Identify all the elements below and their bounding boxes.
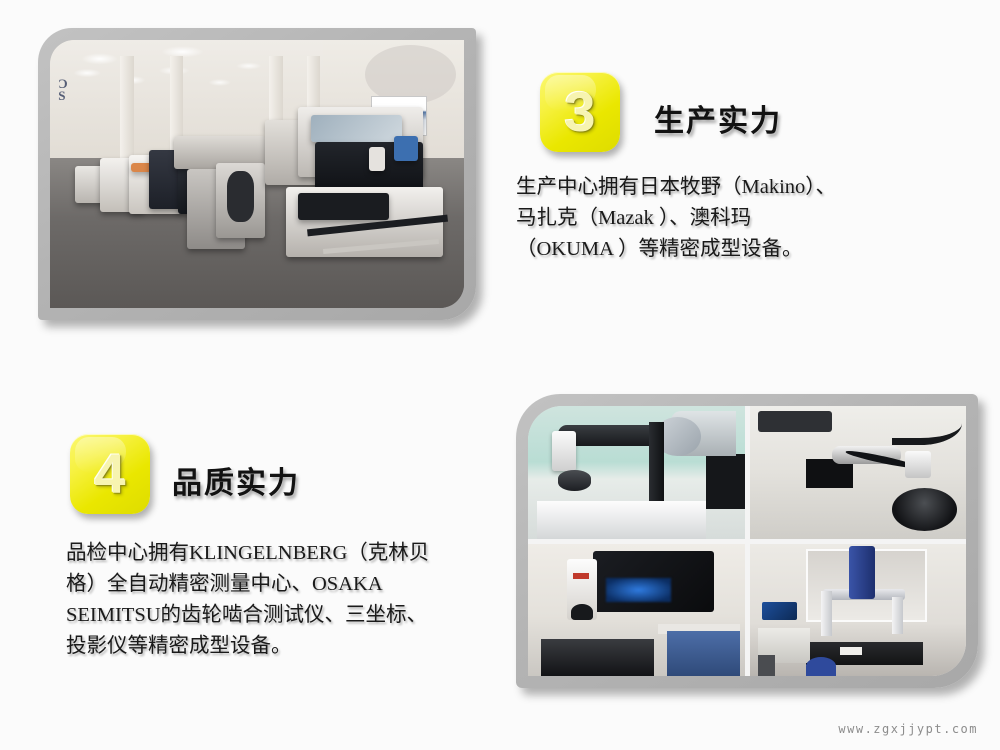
quality-photo-inner (528, 406, 966, 676)
gear-grinding-machine-photo (750, 406, 967, 539)
cmm-blue-cover (806, 657, 836, 676)
gear-probe-housing (552, 431, 576, 471)
gear-measuring-center-photo (528, 406, 745, 539)
cmm-control-box (840, 647, 862, 655)
production-body-line-3: （OKUMA ）等精密成型设备。 (516, 234, 866, 265)
production-photo-frame: ƆS (38, 28, 476, 320)
cmm-pc-tower (758, 655, 775, 676)
projector-screen-glow (606, 578, 671, 602)
grinder-top-plate (758, 411, 832, 432)
cmm-leg-right (892, 597, 903, 634)
grinder-workpiece (905, 451, 931, 478)
quality-body-line-2: 格）全自动精密测量中心、OSAKA (66, 569, 496, 600)
cmm-z-column (849, 546, 875, 599)
gear-dark-area (706, 454, 745, 510)
projector-base (541, 639, 654, 676)
section-title-production: 生产实力 (654, 96, 782, 140)
production-body-line-2: 马扎克（Mazak ）、澳科玛 (516, 203, 866, 234)
grinder-cable-arc (892, 409, 961, 445)
section-body-quality: 品检中心拥有KLINGELNBERG（克林贝 格）全自动精密测量中心、OSAKA… (66, 538, 496, 662)
grinder-chuck (892, 488, 957, 530)
quality-body-line-3: SEIMITSU的齿轮啮合测试仪、三坐标、 (66, 600, 496, 631)
quality-photo-grid (528, 406, 966, 676)
section-badge-4: 4 (70, 434, 150, 514)
quality-body-line-4: 投影仪等精密成型设备。 (66, 631, 496, 662)
gear-workpiece (558, 470, 590, 491)
quality-body-line-1: 品检中心拥有KLINGELNBERG（克林贝 (66, 538, 496, 569)
gear-vertical-column (649, 422, 664, 504)
profile-projector-photo (528, 544, 745, 677)
projector-cabinet (667, 631, 741, 676)
cmm-leg-left (821, 591, 832, 636)
section-title-quality: 品质实力 (172, 458, 300, 502)
coordinate-measuring-machine-photo (750, 544, 967, 677)
site-watermark: www.zgxjjypt.com (838, 722, 978, 736)
projector-brand-logo (573, 573, 588, 580)
projector-lens (571, 604, 593, 620)
production-photo-inner: ƆS (50, 40, 464, 308)
section-badge-3: 3 (540, 72, 620, 152)
machine-tank-opening (298, 193, 389, 220)
section-body-production: 生产中心拥有日本牧野（Makino）、 马扎克（Mazak ）、澳科玛 （OKU… (516, 172, 866, 265)
section-badge-4-number: 4 (94, 446, 125, 502)
blue-drum (394, 136, 419, 160)
production-body-line-1: 生产中心拥有日本牧野（Makino）、 (516, 172, 866, 203)
section-badge-3-number: 3 (564, 84, 595, 140)
white-unit (369, 147, 386, 171)
cmm-monitor (762, 602, 797, 621)
factory-floor-photo: ƆS (50, 40, 464, 308)
quality-photo-frame (516, 394, 978, 688)
gear-worktable (537, 501, 706, 538)
watermark-ghost-logo: ƆS (58, 78, 67, 102)
machine-window (311, 115, 402, 142)
slide-canvas: ƆS 3 生产实力 生产中心拥有日本牧野（Makino）、 马扎克（Mazak … (0, 0, 1000, 750)
machine-h (216, 163, 266, 238)
